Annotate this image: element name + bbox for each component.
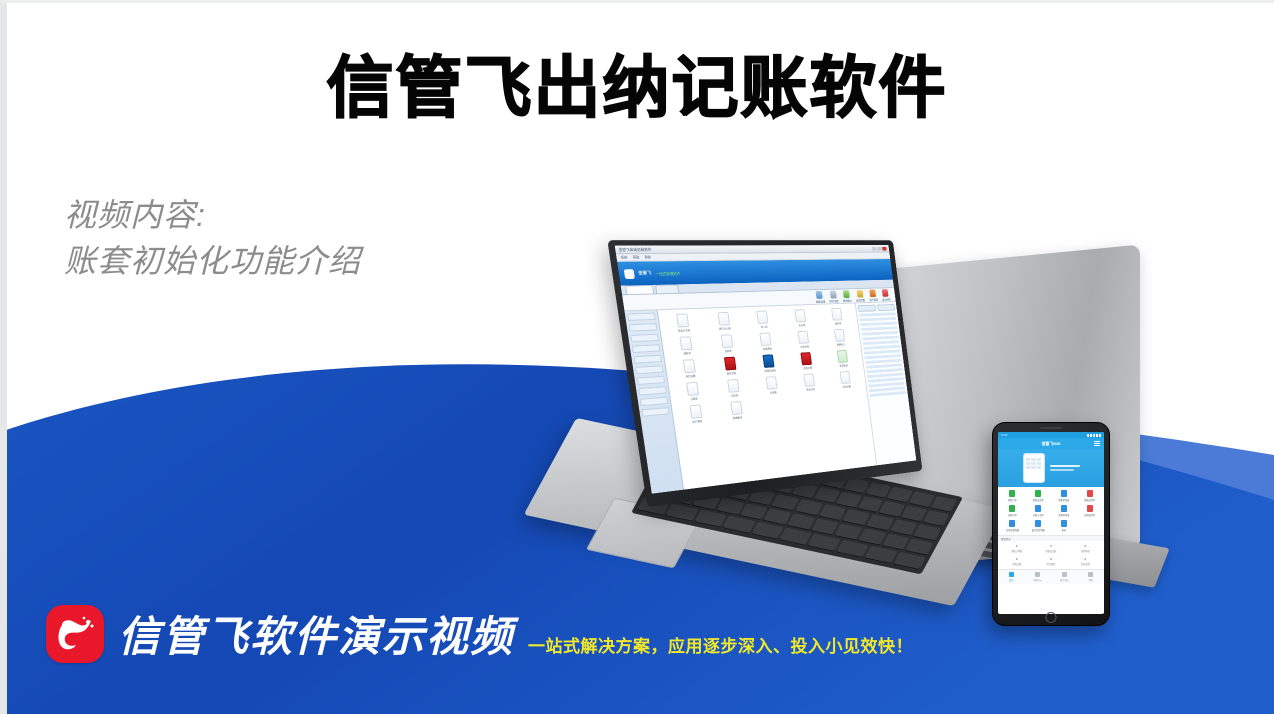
app-icon-label: 账套初始化	[764, 368, 776, 373]
phone-icon-label: 银行资金明细	[1032, 528, 1045, 532]
app-icon-12[interactable]: 账套初始化	[750, 354, 789, 374]
app-icon-label: 结账处理	[803, 366, 812, 370]
app-icon-glyph	[727, 379, 740, 393]
app-icon-label: 数据备份	[733, 415, 743, 420]
app-icon-label: 费用报销	[762, 346, 772, 350]
brand-name-text: 信管飞软件演示视频	[118, 611, 514, 663]
app-icon-1[interactable]: 银行日记账	[703, 311, 744, 331]
device-mockup-group: 信管飞出纳记账软件 系统 基础 帮助 信管飞 一站式管理软件	[560, 240, 1274, 660]
home-icon	[1009, 572, 1014, 577]
phone-icon-glyph	[1087, 505, 1093, 512]
phone-icon-8[interactable]: 库存收发明细	[1000, 520, 1025, 532]
app-icon-label: 打印设置	[842, 384, 851, 388]
toolbar-item-5[interactable]: 退出系统	[881, 289, 891, 301]
phone-nav-统计分析[interactable]: 统计分析	[1051, 572, 1078, 582]
desktop-application-window: 信管飞出纳记账软件 系统 基础 帮助 信管飞 一站式管理软件	[615, 245, 917, 494]
app-icon-label: 转账单	[835, 321, 842, 325]
user-icon	[1088, 572, 1093, 577]
phone-icon-0[interactable]: 销售订单	[1000, 490, 1025, 502]
right-tab-messages[interactable]	[858, 305, 877, 312]
app-icon-glyph	[683, 359, 696, 373]
minimize-icon[interactable]	[872, 246, 877, 250]
phone-icon-label: 销售退货单	[1084, 498, 1095, 502]
app-icon-glyph	[757, 311, 769, 324]
banner-device-illustration	[1023, 453, 1045, 483]
app-icon-label: 日报表	[690, 396, 698, 401]
window-title: 信管飞出纳记账软件	[618, 247, 652, 253]
app-icon-21[interactable]: 数据备份	[716, 400, 756, 421]
right-list-item[interactable]	[869, 391, 906, 397]
presentation-slide: 信管飞出纳记账软件 视频内容: 账套初始化功能介绍	[0, 0, 1274, 714]
sidebar-item-3[interactable]	[632, 344, 661, 353]
app-icon-glyph	[730, 401, 743, 415]
phone-icon-2[interactable]: 销售单列表	[1052, 490, 1077, 502]
app-icon-label: 往来对账	[800, 344, 809, 348]
banner-device-grid	[1026, 458, 1042, 469]
phone-icon-1[interactable]: 销售出库单	[1026, 490, 1051, 502]
app-icon-label: 资金分析	[806, 387, 815, 392]
app-icon-3[interactable]: 支出单	[782, 309, 820, 328]
app-icon-label: 收入单	[761, 325, 768, 329]
phone-screen: 10:42 信管飞MIS 销售订单销售出库单销售单列表销售退货单采购订单采购入库…	[998, 432, 1104, 614]
exit-icon	[882, 289, 889, 297]
app-icon-glyph	[795, 309, 807, 322]
phone-app-title: 信管飞MIS	[1041, 441, 1060, 447]
app-icon-label: 票据登记	[837, 342, 846, 346]
sidebar-item-4[interactable]	[633, 355, 662, 364]
toolbar-item-4[interactable]: 用户管理	[868, 289, 878, 302]
app-icon-glyph	[689, 404, 702, 418]
tab-accounting[interactable]	[655, 284, 679, 293]
app-icon-glyph	[720, 334, 733, 348]
phone-icon-label: 更多	[1062, 528, 1066, 532]
app-icon-8[interactable]: 往来对账	[785, 330, 822, 349]
app-icon-glyph	[766, 376, 778, 390]
window-controls[interactable]	[872, 246, 887, 250]
app-brand-text: 信管飞	[638, 270, 652, 277]
window-body: 现金日记账银行日记账收入单支出单转账单借款单还款单费用报销往来对账票据登记科目设…	[625, 302, 917, 494]
phone-app-header: 信管飞MIS	[998, 438, 1104, 449]
page-title: 信管飞出纳记账软件	[0, 50, 1274, 128]
phone-nav-label: 我的	[1089, 578, 1093, 582]
phone-icon-6[interactable]: 采购单列表	[1052, 505, 1077, 517]
menu-item-2[interactable]: 帮助	[644, 255, 651, 259]
top-edge-strip	[0, 0, 1274, 3]
app-icon-glyph	[686, 382, 699, 396]
phone-icon-glyph	[1035, 505, 1041, 512]
phone-icon-glyph	[1009, 505, 1015, 512]
toolbar-item-3[interactable]: 权限设置	[855, 289, 865, 302]
phone-stat-value: 0	[1016, 557, 1018, 561]
flying-bird-logo-icon	[46, 605, 104, 663]
app-icon-6[interactable]: 还款单	[707, 334, 748, 354]
right-list-item[interactable]	[859, 312, 896, 316]
phone-icon-label: 库存收发明细	[1006, 528, 1019, 532]
close-icon[interactable]	[882, 246, 887, 250]
phone-icon-3[interactable]: 销售退货单	[1077, 490, 1102, 502]
sidebar-item-5[interactable]	[635, 365, 664, 374]
phone-status-time: 10:42	[1001, 434, 1008, 437]
tab-workbench[interactable]	[625, 285, 654, 294]
app-icon-15[interactable]: 日报表	[672, 381, 714, 403]
app-icon-label: 年报表	[770, 390, 777, 394]
app-icon-14[interactable]: 新增账套	[825, 349, 861, 368]
hamburger-menu-icon[interactable]	[1094, 441, 1100, 446]
phone-stats-grid: 0销售订单数0销售出库数0采购单数0采购金额0库存预警0收款金额	[998, 541, 1104, 569]
phone-speaker	[1040, 427, 1062, 429]
app-icon-glyph	[837, 350, 848, 363]
subtitle-block: 视频内容: 账套初始化功能介绍	[64, 192, 361, 284]
phone-stat-5: 0收款金额	[1069, 557, 1102, 566]
laptop-screen: 信管飞出纳记账软件 系统 基础 帮助 信管飞 一站式管理软件	[615, 245, 917, 494]
phone-bottom-nav[interactable]: 首页单据中心统计分析我的	[998, 569, 1104, 584]
app-icon-label: 新增账套	[839, 363, 848, 367]
phone-stat-value: 0	[1050, 557, 1052, 561]
phone-nav-首页[interactable]: 首页	[998, 572, 1025, 582]
app-icon-label: 用户管理	[692, 419, 702, 424]
phone-icon-glyph	[1009, 490, 1015, 497]
app-icon-glyph	[717, 312, 730, 326]
app-icon-13[interactable]: 结账处理	[788, 351, 825, 371]
phone-icon-glyph	[1061, 520, 1067, 527]
phone-icon-glyph	[1035, 490, 1041, 497]
app-icon-19[interactable]: 打印设置	[828, 370, 864, 390]
app-icon-glyph	[840, 371, 851, 384]
phone-icon-glyph	[1087, 490, 1093, 497]
permission-icon	[856, 289, 863, 297]
app-icon-label: 借款单	[683, 351, 691, 356]
sidebar-item-0[interactable]	[627, 313, 656, 321]
phone-icon-5[interactable]: 采购入库单	[1026, 505, 1051, 517]
phone-nav-label: 首页	[1009, 578, 1013, 582]
app-icon-glyph	[724, 357, 737, 371]
phone-stat-value: 0	[1085, 557, 1087, 561]
phone-status-icons	[1087, 434, 1101, 437]
app-icon-glyph	[801, 352, 813, 365]
phone-stat-value: 0	[1016, 544, 1018, 548]
toolbar-item-2[interactable]: 数据备份	[841, 290, 852, 303]
application-icon-grid[interactable]: 现金日记账银行日记账收入单支出单转账单借款单还款单费用报销往来对账票据登记科目设…	[658, 303, 877, 493]
subtitle-line-2: 账套初始化功能介绍	[64, 238, 361, 284]
phone-icon-glyph	[1035, 520, 1041, 527]
phone-nav-单据中心[interactable]: 单据中心	[1025, 572, 1052, 582]
phone-stat-0: 0销售订单数	[1000, 544, 1033, 553]
phone-home-button[interactable]	[1046, 612, 1057, 623]
initial-setup-icon	[829, 290, 836, 298]
menu-item-0[interactable]: 系统	[621, 255, 628, 259]
sidebar-item-2[interactable]	[630, 334, 659, 343]
phone-nav-label: 统计分析	[1060, 578, 1069, 582]
phone-nav-label: 单据中心	[1033, 578, 1042, 582]
app-icon-17[interactable]: 年报表	[753, 375, 792, 396]
phone-icon-glyph	[1061, 505, 1067, 512]
app-icon-7[interactable]: 费用报销	[747, 332, 786, 352]
phone-icon-label: 采购入库单	[1033, 513, 1044, 517]
user-manage-icon	[869, 289, 876, 297]
sidebar-item-6[interactable]	[637, 376, 666, 385]
phone-icon-glyph	[1061, 490, 1067, 497]
app-icon-glyph	[760, 332, 772, 346]
app-icon-glyph	[679, 336, 692, 350]
app-icon-label: 期初余额	[726, 371, 736, 376]
right-tab-favorites[interactable]	[877, 304, 895, 311]
right-panel-tabs[interactable]	[858, 304, 896, 312]
app-icon-label: 科目设置	[685, 374, 695, 379]
right-list-item[interactable]	[859, 317, 896, 321]
phone-icon-label: 销售出库单	[1033, 498, 1044, 502]
phone-stat-label: 采购金额	[1012, 562, 1021, 566]
phone-icon-4[interactable]: 采购订单	[1000, 505, 1025, 517]
phone-icon-grid[interactable]: 销售订单销售出库单销售单列表销售退货单采购订单采购入库单采购单列表采购退货单库存…	[998, 487, 1104, 536]
app-icon-18[interactable]: 资金分析	[791, 373, 828, 393]
phone-stat-value: 0	[1085, 544, 1087, 548]
phone-section-label: 经营状况	[1001, 537, 1011, 541]
phone-icon-label: 采购订单	[1008, 513, 1017, 517]
phone-stat-label: 收款金额	[1081, 562, 1090, 566]
phone-icon-9[interactable]: 银行资金明细	[1026, 520, 1051, 532]
phone-banner	[998, 449, 1104, 487]
document-icon	[1035, 572, 1040, 577]
app-logo-icon	[624, 269, 635, 279]
app-icon-label: 月报表	[731, 393, 739, 398]
app-icon-label: 还款单	[724, 349, 732, 353]
sidebar-item-7[interactable]	[638, 386, 667, 395]
phone-stat-4: 0库存预警	[1034, 557, 1067, 566]
phone-icon-glyph	[1009, 520, 1015, 527]
app-icon-5[interactable]: 借款单	[665, 336, 707, 357]
primary-laptop: 信管飞出纳记账软件 系统 基础 帮助 信管飞 一站式管理软件	[560, 240, 1020, 640]
app-slogan-text: 一站式管理软件	[655, 270, 680, 276]
backup-icon	[843, 290, 850, 298]
phone-stat-label: 销售订单数	[1011, 549, 1022, 553]
phone-stat-value: 0	[1050, 544, 1052, 548]
chart-icon	[1062, 572, 1067, 577]
app-icon-16[interactable]: 月报表	[713, 378, 753, 399]
app-icon-11[interactable]: 期初余额	[710, 356, 750, 377]
app-icon-glyph	[804, 373, 816, 386]
phone-stat-label: 采购单数	[1081, 549, 1090, 553]
right-panel-list[interactable]	[859, 312, 906, 397]
maximize-icon[interactable]	[877, 246, 882, 250]
app-icon-glyph	[676, 313, 689, 327]
phone-nav-我的[interactable]: 我的	[1078, 572, 1105, 582]
app-icon-4[interactable]: 转账单	[819, 307, 855, 326]
sidebar-item-8[interactable]	[640, 397, 669, 407]
phone-stat-label: 库存预警	[1047, 562, 1056, 566]
phone-icon-label: 销售单列表	[1058, 498, 1069, 502]
app-icon-10[interactable]: 科目设置	[668, 358, 710, 379]
smartphone-mockup: 10:42 信管飞MIS 销售订单销售出库单销售单列表销售退货单采购订单采购入库…	[992, 422, 1110, 626]
laptop-lid: 信管飞出纳记账软件 系统 基础 帮助 信管飞 一站式管理软件	[607, 240, 922, 507]
sidebar-item-9[interactable]	[641, 407, 669, 417]
app-icon-2[interactable]: 收入单	[743, 310, 782, 330]
app-icon-glyph	[834, 329, 845, 342]
app-icon-glyph	[763, 354, 775, 368]
app-icon-9[interactable]: 票据登记	[822, 328, 858, 347]
app-icon-0[interactable]: 现金日记账	[661, 313, 704, 333]
sidebar-item-1[interactable]	[629, 323, 658, 332]
toolbar-item-1[interactable]: 期初设置	[828, 290, 839, 303]
phone-icon-7[interactable]: 采购退货单	[1077, 505, 1102, 517]
phone-stat-1: 0销售出库数	[1034, 544, 1067, 553]
left-edge-strip	[0, 0, 7, 714]
account-set-icon	[816, 290, 823, 298]
right-list-item[interactable]	[860, 322, 897, 327]
phone-icon-10[interactable]: 更多	[1052, 520, 1077, 532]
subtitle-line-1: 视频内容:	[64, 192, 361, 238]
footer-brand: 信管飞软件演示视频 一站式解决方案，应用逐步深入、投入小见效快！	[46, 605, 913, 663]
phone-stat-label: 销售出库数	[1046, 549, 1057, 553]
app-icon-glyph	[798, 331, 810, 344]
phone-stat-2: 0采购单数	[1069, 544, 1102, 553]
phone-icon-label: 采购退货单	[1084, 513, 1095, 517]
app-icon-label: 支出单	[798, 323, 805, 327]
app-icon-label: 银行日记账	[719, 326, 731, 331]
app-icon-label: 现金日记账	[678, 328, 691, 333]
brand-tagline-text: 一站式解决方案，应用逐步深入、投入小见效快！	[528, 636, 913, 658]
phone-icon-label: 销售订单	[1008, 498, 1017, 502]
banner-text	[1050, 465, 1080, 471]
phone-icon-label: 采购单列表	[1058, 513, 1069, 517]
app-icon-20[interactable]: 用户管理	[675, 403, 717, 425]
toolbar-item-0[interactable]: 账套管理	[814, 290, 825, 303]
app-icon-glyph	[831, 308, 842, 321]
menu-item-1[interactable]: 基础	[633, 255, 640, 259]
phone-stat-3: 0采购金额	[1000, 557, 1033, 566]
